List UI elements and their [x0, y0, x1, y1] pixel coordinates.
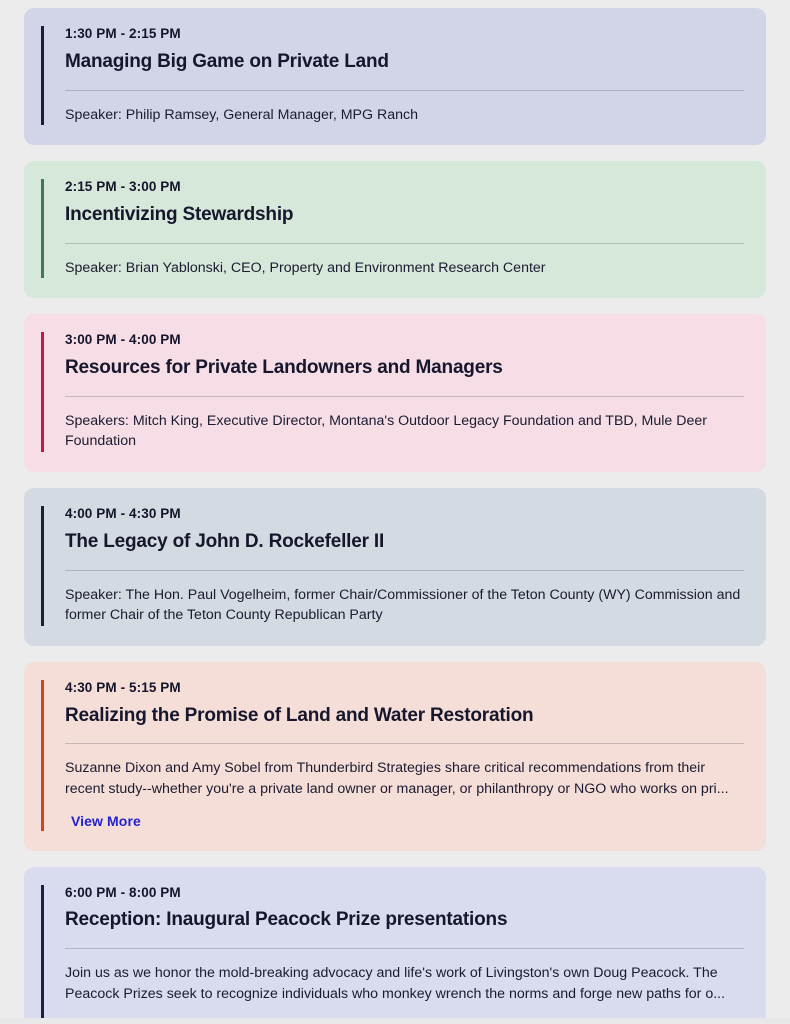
session-time: 4:30 PM - 5:15 PM — [65, 680, 744, 697]
session-card-2[interactable]: 2:15 PM - 3:00 PM Incentivizing Stewards… — [24, 161, 766, 298]
session-card-body: 3:00 PM - 4:00 PM Resources for Private … — [65, 332, 744, 452]
page-bottom-edge — [0, 1018, 790, 1024]
session-description: Speaker: Brian Yablonski, CEO, Property … — [65, 258, 744, 279]
session-card-4[interactable]: 4:00 PM - 4:30 PM The Legacy of John D. … — [24, 488, 766, 646]
session-card-body: 2:15 PM - 3:00 PM Incentivizing Stewards… — [65, 179, 744, 278]
session-description: Speakers: Mitch King, Executive Director… — [65, 411, 744, 452]
session-title: Realizing the Promise of Land and Water … — [65, 704, 744, 729]
session-divider — [65, 948, 744, 949]
session-title: Incentivizing Stewardship — [65, 203, 744, 228]
session-accent-bar — [41, 332, 44, 452]
session-card-body: 1:30 PM - 2:15 PM Managing Big Game on P… — [65, 26, 744, 125]
session-time: 2:15 PM - 3:00 PM — [65, 179, 744, 196]
session-divider — [65, 243, 744, 244]
session-card-body: 4:30 PM - 5:15 PM Realizing the Promise … — [65, 680, 744, 831]
session-card-body: 6:00 PM - 8:00 PM Reception: Inaugural P… — [65, 885, 744, 1024]
view-more-link[interactable]: View More — [71, 813, 141, 829]
session-accent-bar — [41, 179, 44, 278]
session-accent-bar — [41, 26, 44, 125]
session-schedule-list: 1:30 PM - 2:15 PM Managing Big Game on P… — [0, 0, 790, 1024]
session-title: Managing Big Game on Private Land — [65, 50, 744, 75]
session-description: Speaker: The Hon. Paul Vogelheim, former… — [65, 585, 744, 626]
session-description: Join us as we honor the mold-breaking ad… — [65, 963, 744, 1004]
session-accent-bar — [41, 506, 44, 626]
session-divider — [65, 396, 744, 397]
session-card-3[interactable]: 3:00 PM - 4:00 PM Resources for Private … — [24, 314, 766, 472]
session-divider — [65, 743, 744, 744]
session-accent-bar — [41, 680, 44, 831]
session-time: 3:00 PM - 4:00 PM — [65, 332, 744, 349]
session-time: 6:00 PM - 8:00 PM — [65, 885, 744, 902]
session-card-6[interactable]: 6:00 PM - 8:00 PM Reception: Inaugural P… — [24, 867, 766, 1024]
session-description: Suzanne Dixon and Amy Sobel from Thunder… — [65, 758, 744, 799]
session-accent-bar — [41, 885, 44, 1024]
session-time: 1:30 PM - 2:15 PM — [65, 26, 744, 43]
session-title: The Legacy of John D. Rockefeller II — [65, 530, 744, 555]
session-card-1[interactable]: 1:30 PM - 2:15 PM Managing Big Game on P… — [24, 8, 766, 145]
session-description: Speaker: Philip Ramsey, General Manager,… — [65, 105, 744, 126]
session-divider — [65, 90, 744, 91]
session-divider — [65, 570, 744, 571]
session-title: Reception: Inaugural Peacock Prize prese… — [65, 908, 744, 933]
session-title: Resources for Private Landowners and Man… — [65, 356, 744, 381]
session-time: 4:00 PM - 4:30 PM — [65, 506, 744, 523]
session-card-body: 4:00 PM - 4:30 PM The Legacy of John D. … — [65, 506, 744, 626]
session-card-5[interactable]: 4:30 PM - 5:15 PM Realizing the Promise … — [24, 662, 766, 851]
